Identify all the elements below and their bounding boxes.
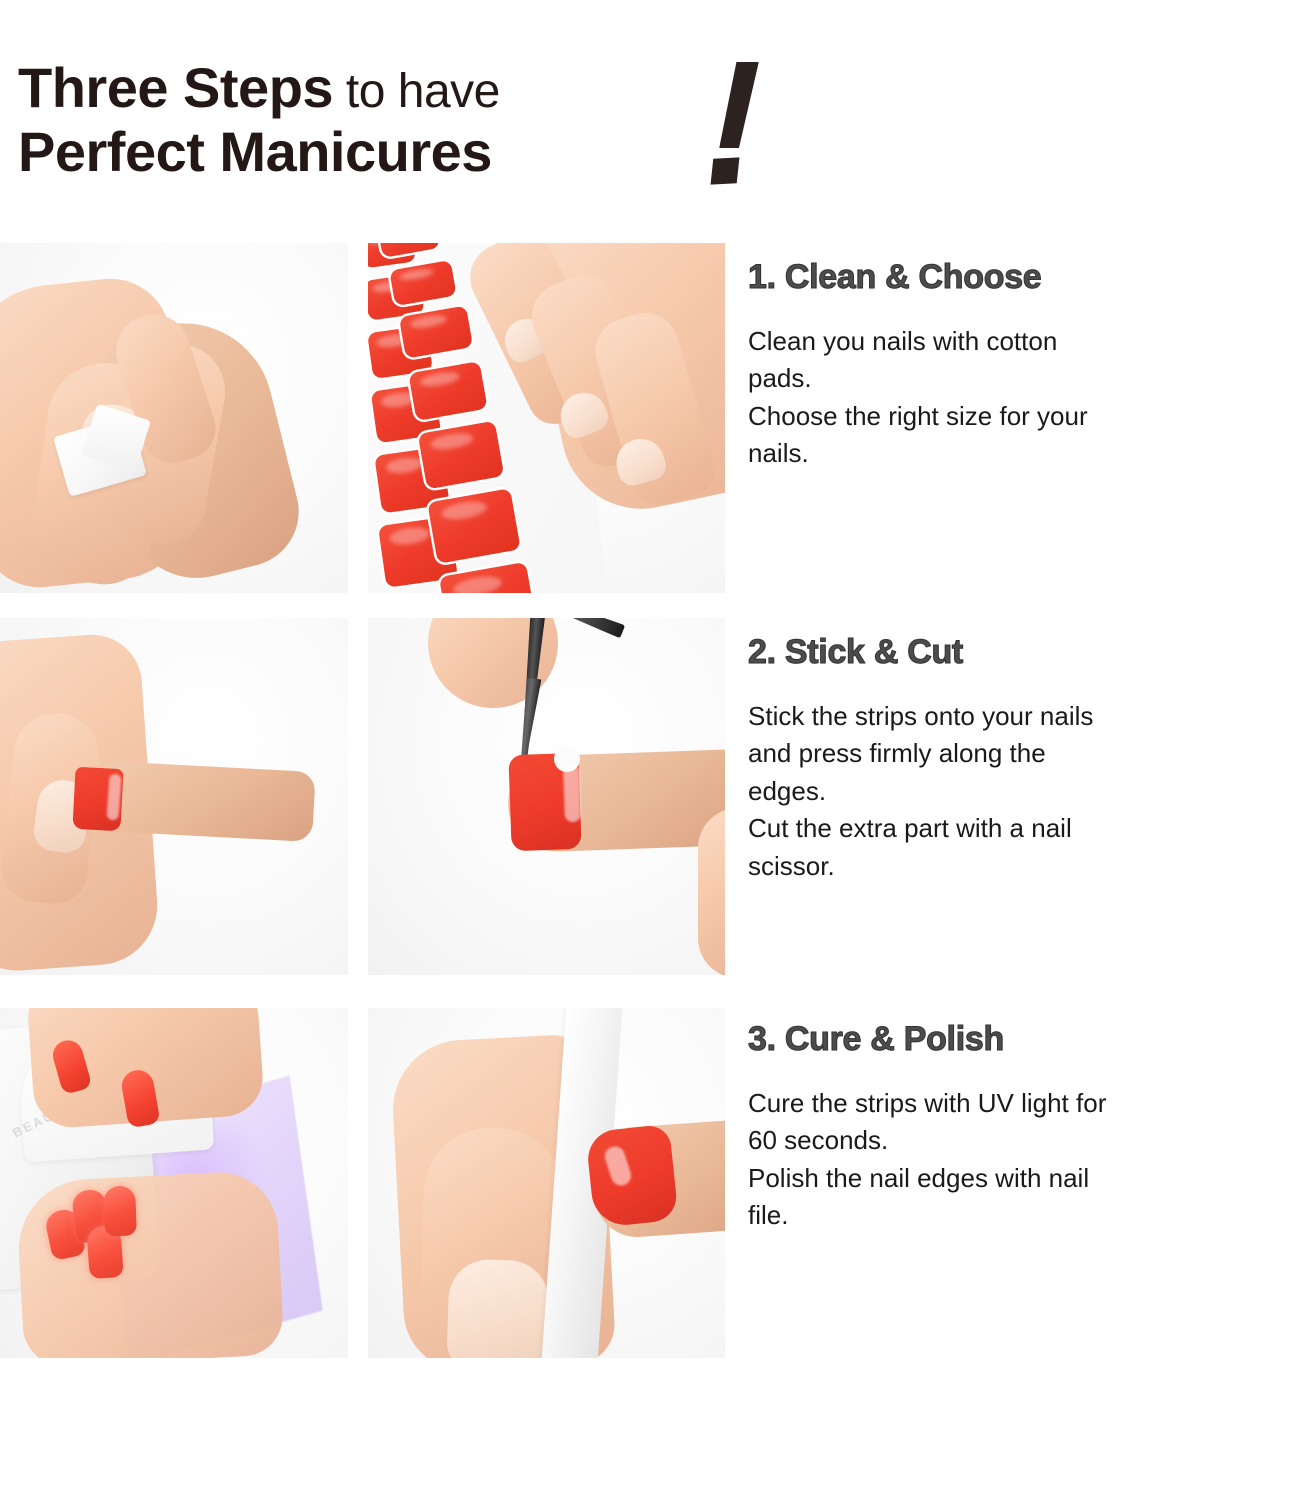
step-2-body: Stick the strips onto your nails and pre… [748, 698, 1300, 885]
hand-edge-shape [698, 808, 725, 975]
step-3-heading: 3. Cure & Polish [748, 1020, 1300, 1059]
step-1-line-2: pads. [748, 360, 1300, 397]
step-2-line-2: and press firmly along the [748, 735, 1300, 772]
title-strong-1: Three Steps [18, 56, 333, 119]
page-title: Three Steps to have Perfect Manicures [18, 60, 798, 210]
photo-nail-strip-sheet [368, 243, 725, 593]
step-1-line-3: Choose the right size for your [748, 398, 1300, 435]
step-3-body: Cure the strips with UV light for 60 sec… [748, 1085, 1300, 1235]
step-3-line-1: Cure the strips with UV light for [748, 1085, 1300, 1122]
step-2-line-5: scissor. [748, 848, 1300, 885]
step-2-line-1: Stick the strips onto your nails [748, 698, 1300, 735]
red-nail [585, 1124, 679, 1228]
photo-cure-uv-lamp: BEAUTY [0, 1008, 348, 1358]
red-nail [103, 1185, 137, 1236]
curing-hand-shape [15, 1169, 284, 1358]
step-2-heading: 2. Stick & Cut [748, 633, 1300, 672]
exclamation-bar [719, 62, 759, 148]
title-light: to have [333, 65, 500, 118]
photo-clean-nails-cotton-pad [0, 243, 348, 593]
step-2-line-3: edges. [748, 773, 1300, 810]
title-strong-2: Perfect Manicures [18, 120, 492, 183]
step-3-line-3: Polish the nail edges with nail [748, 1160, 1300, 1197]
step-3-block: 3. Cure & Polish Cure the strips with UV… [748, 1020, 1300, 1235]
instruction-infographic: Three Steps to have Perfect Manicures [0, 0, 1300, 1500]
step-1-body: Clean you nails with cotton pads. Choose… [748, 323, 1300, 473]
step-2-line-4: Cut the extra part with a nail [748, 810, 1300, 847]
photo-cut-with-scissors [368, 618, 725, 975]
exclamation-dot [711, 157, 740, 184]
step-3-line-4: file. [748, 1197, 1300, 1234]
natural-nail-shape [446, 1258, 550, 1358]
step-1-line-4: nails. [748, 435, 1300, 472]
step-1-line-1: Clean you nails with cotton [748, 323, 1300, 360]
exclamation-mark-icon [700, 62, 790, 202]
step-3-line-2: 60 seconds. [748, 1122, 1300, 1159]
nail-gloss [563, 764, 581, 823]
photo-polish-with-nail-file [368, 1008, 725, 1358]
step-2-block: 2. Stick & Cut Stick the strips onto you… [748, 633, 1300, 885]
step-1-heading: 1. Clean & Choose [748, 258, 1300, 297]
step-1-block: 1. Clean & Choose Clean you nails with c… [748, 258, 1300, 473]
photo-stick-strip-on-nail [0, 618, 348, 975]
